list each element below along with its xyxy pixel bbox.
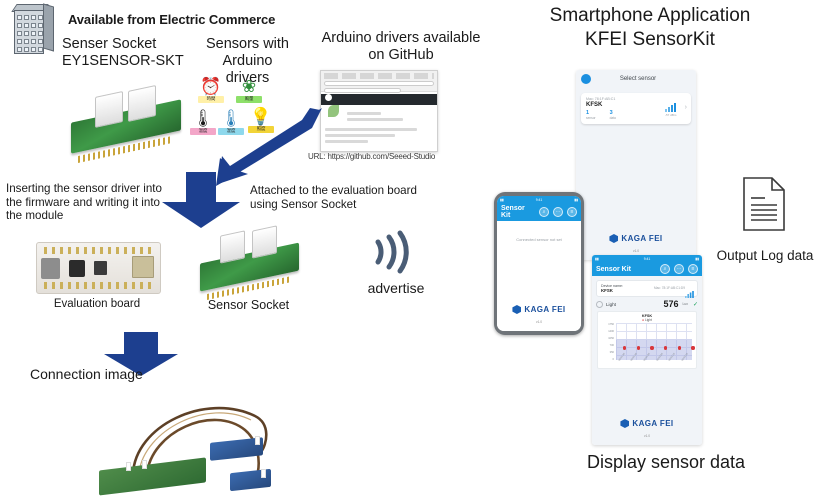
status-bar: ▮▮ 9:41 ▮▮ bbox=[592, 255, 702, 262]
sensors-arduino-label-line1: Sensors with Arduino bbox=[180, 36, 315, 70]
status-bar: ▮▮ 9:41 ▮▮ bbox=[497, 196, 581, 203]
chart-plot-area: 1750 1400 1050 700 350 0 08:01:30 08:01:… bbox=[600, 323, 694, 367]
app-version: v1.0 bbox=[497, 320, 581, 324]
output-log-caption: Output Log data bbox=[706, 248, 824, 264]
sensor-socket-label: Senser Socket EY1SENSOR-SKT bbox=[62, 36, 197, 70]
y-tick: 1050 bbox=[600, 337, 614, 340]
evaluation-board-caption: Evaluation board bbox=[32, 298, 162, 312]
app-version: v1.0 bbox=[592, 434, 702, 438]
kaga-fei-mark-icon bbox=[620, 419, 629, 428]
sensor-chart: KFSK ● Light 1750 1400 1050 700 350 0 bbox=[597, 311, 697, 369]
phone-select-sensor: Select sensor Mac: 78:1F:AB:C1 KFSK 1 se… bbox=[576, 70, 696, 260]
app-bar-title: Sensor Kit bbox=[596, 266, 656, 273]
y-tick: 700 bbox=[600, 344, 614, 347]
chart-point bbox=[650, 346, 653, 349]
chevron-right-icon[interactable]: › bbox=[685, 104, 687, 111]
search-icon[interactable]: ⌕ bbox=[539, 207, 549, 217]
app-bar: Sensor Kit ⌕ ⋯ ≡ bbox=[592, 262, 702, 276]
phone-sensor-kit-empty: ▮▮ 9:41 ▮▮ Sensor Kit ⌕ ⋯ ≡ Connected se… bbox=[494, 192, 584, 335]
status-left: ▮▮ bbox=[500, 198, 504, 202]
signal-bars-icon bbox=[685, 285, 694, 303]
github-drivers-label-line1: Arduino drivers available bbox=[316, 30, 486, 47]
chart-point bbox=[623, 346, 626, 349]
kaga-fei-logo: KAGA FEI bbox=[512, 305, 565, 314]
step-attach-board-text: Attached to the evaluation board using S… bbox=[250, 184, 435, 211]
sensor-socket-photo-2 bbox=[196, 225, 304, 295]
phone-sensor-data: ▮▮ 9:41 ▮▮ Sensor Kit ⌕ ⋯ ≡ Device name:… bbox=[592, 255, 702, 445]
app-version: v1.0 bbox=[576, 249, 696, 253]
document-lines-icon bbox=[742, 176, 786, 232]
arrow-down-step-1 bbox=[158, 172, 244, 228]
signal-bars-icon: -57 dBm bbox=[665, 103, 677, 117]
chart-point bbox=[691, 346, 694, 349]
page-title-line1: Smartphone Application bbox=[500, 4, 800, 28]
status-left: ▮▮ bbox=[595, 257, 599, 261]
brand-block: KAGA FEI v1.0 bbox=[592, 415, 702, 438]
status-right: ▮▮ bbox=[574, 198, 578, 202]
fan-icon: ❀ 風量 bbox=[236, 78, 262, 103]
status-right: ▮▮ bbox=[695, 257, 699, 261]
sensor-list-item[interactable]: Mac: 78:1F:AB:C1 KFSK 1 sensor 3 data bbox=[581, 93, 691, 124]
light-sensor-icon bbox=[596, 301, 603, 308]
seeed-logo-icon bbox=[328, 105, 339, 117]
github-browser-screenshot bbox=[320, 70, 438, 152]
display-sensor-data-caption: Display sensor data bbox=[546, 452, 786, 473]
empty-state-hint: Connected sensor not set bbox=[501, 237, 577, 242]
connection-image-caption: Connection image bbox=[30, 366, 143, 383]
wired-boards-photo bbox=[95, 386, 300, 498]
menu-icon[interactable]: ≡ bbox=[688, 264, 698, 274]
data-count-label: data bbox=[610, 116, 616, 120]
sensor-socket-label-line1: Senser Socket bbox=[62, 36, 197, 53]
more-icon[interactable]: ⋯ bbox=[553, 207, 563, 217]
page-title: Smartphone Application KFEI SensorKit bbox=[500, 4, 800, 53]
broadcast-signal-icon bbox=[368, 228, 418, 276]
status-time: 9:41 bbox=[644, 257, 651, 261]
page-title-line2: KFEI SensorKit bbox=[500, 28, 800, 52]
status-time: 9:41 bbox=[536, 198, 543, 202]
app-bar: Sensor Kit ⌕ ⋯ ≡ bbox=[497, 203, 581, 221]
github-drivers-label: Arduino drivers available on GitHub bbox=[316, 30, 486, 64]
brand-block: KAGA FEI v1.0 bbox=[497, 301, 581, 324]
sensor-socket-photo bbox=[66, 80, 186, 158]
kaga-fei-logo: KAGA FEI bbox=[609, 234, 662, 243]
select-sensor-list: Mac: 78:1F:AB:C1 KFSK 1 sensor 3 data bbox=[576, 88, 696, 260]
device-mac: Mac: 78:1F:AB:C1 bbox=[586, 97, 686, 101]
ecommerce-heading: Available from Electric Commerce bbox=[68, 12, 275, 27]
select-sensor-header: Select sensor bbox=[576, 70, 696, 88]
legend-marker: ● bbox=[642, 318, 644, 322]
y-tick: 1400 bbox=[600, 330, 614, 333]
device-info-card[interactable]: Device name: KFSK Mac: 78:1F:AB:C1:D9 bbox=[596, 280, 698, 297]
alarm-clock-icon: ⏰ 時間 bbox=[198, 78, 224, 103]
chart-point bbox=[637, 346, 640, 349]
github-url-text: URL: https://github.com/Seeed-Studio bbox=[308, 152, 435, 161]
kaga-fei-mark-icon bbox=[512, 305, 521, 314]
search-icon[interactable]: ⌕ bbox=[660, 264, 670, 274]
chart-x-axis: 08:01:30 08:01:40 08:01:50 08:02:00 08:0… bbox=[616, 360, 692, 367]
sensor-reading-row[interactable]: Light 576 Lux ✓ bbox=[596, 299, 698, 309]
bluetooth-icon[interactable] bbox=[581, 74, 591, 84]
github-drivers-label-line2: on GitHub bbox=[316, 47, 486, 64]
kaga-fei-text: KAGA FEI bbox=[621, 234, 662, 243]
phone-c-body: Device name: KFSK Mac: 78:1F:AB:C1:D9 bbox=[592, 276, 702, 445]
y-tick: 1750 bbox=[600, 323, 614, 326]
sensor-socket-caption: Sensor Socket bbox=[186, 298, 311, 313]
brand-block: KAGA FEI v1.0 bbox=[576, 230, 696, 253]
sensor-value: 576 bbox=[663, 299, 678, 309]
chart-point bbox=[678, 346, 681, 349]
kaga-fei-logo: KAGA FEI bbox=[620, 419, 673, 428]
kaga-fei-text: KAGA FEI bbox=[632, 419, 673, 428]
menu-icon[interactable]: ≡ bbox=[567, 207, 577, 217]
y-tick: 0 bbox=[600, 358, 614, 361]
evaluation-board-photo bbox=[36, 242, 161, 294]
kaga-fei-text: KAGA FEI bbox=[524, 305, 565, 314]
select-sensor-title: Select sensor bbox=[597, 76, 691, 82]
app-bar-title: Sensor Kit bbox=[501, 205, 535, 219]
more-icon[interactable]: ⋯ bbox=[674, 264, 684, 274]
device-mac: Mac: 78:1F:AB:C1:D9 bbox=[654, 286, 685, 290]
legend-label: Light bbox=[645, 318, 652, 322]
kaga-fei-mark-icon bbox=[609, 234, 618, 243]
chart-point bbox=[664, 346, 667, 349]
step-insert-driver-text: Inserting the sensor driver into the fir… bbox=[6, 182, 166, 223]
y-tick: 350 bbox=[600, 351, 614, 354]
office-building-icon bbox=[10, 4, 58, 56]
sensor-socket-label-line2: EY1SENSOR-SKT bbox=[62, 53, 197, 70]
sensor-count-label: sensor bbox=[586, 116, 596, 120]
phone-b-body: Connected sensor not set KAGA FEI v1.0 bbox=[497, 221, 581, 331]
chart-legend: ● Light bbox=[600, 318, 694, 322]
slide-canvas: Available from Electric Commerce Senser … bbox=[0, 0, 828, 501]
rssi-value: -57 dBm bbox=[665, 113, 677, 117]
sensor-name: Light bbox=[606, 302, 660, 307]
advertise-caption: advertise bbox=[346, 280, 446, 297]
